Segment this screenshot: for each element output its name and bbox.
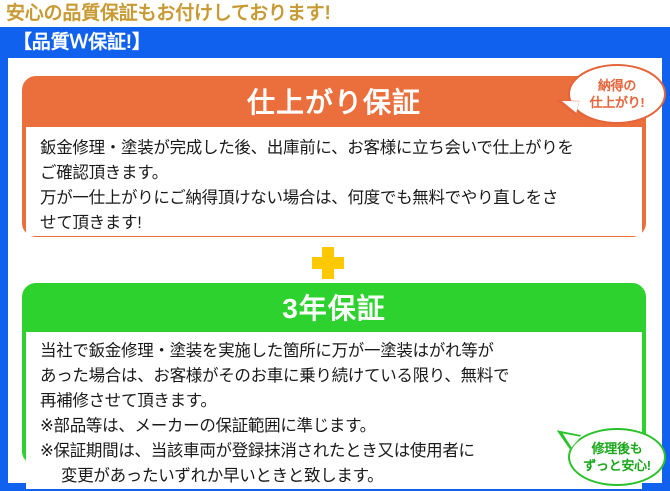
bubble-line-2: ずっと安心! [583,457,651,474]
card-finish-guarantee-title: 仕上がり保証 [25,79,643,127]
plus-icon-vertical-bar [322,247,334,279]
card-three-year-guarantee: 3年保証 当社で鈑金修理・塗装を実施した箇所に万が一塗装はがれ等が あった場合は… [22,283,646,465]
body-line: 当社で鈑金修理・塗装を実施した箇所に万が一塗装はがれ等が [40,339,642,364]
card-finish-guarantee-body: 鈑金修理・塗装が完成した後、出庫前に、お客様に立ち会いで仕上がりを ご確認頂きま… [26,127,642,236]
page-headline: 安心の品質保証もお付けしております! [6,0,666,27]
bubble-line-1: 納得の [598,77,636,94]
card-three-year-guarantee-body: 当社で鈑金修理・塗装を実施した箇所に万が一塗装はがれ等が あった場合は、お客様が… [26,332,642,489]
callout-bubble-finish: 納得の 仕上がり! [568,64,666,124]
card-finish-guarantee: 仕上がり保証 鈑金修理・塗装が完成した後、出庫前に、お客様に立ち会いで仕上がりを… [22,76,646,237]
bubble-line-2: 仕上がり! [590,94,645,111]
body-line: ご確認頂きます。 [40,161,642,186]
blue-banner-label: 【品質Ｗ保証!】 [13,28,151,57]
body-line: 万が一仕上がりにご納得頂けない場合は、何度でも無料でやり直しをさ [40,186,642,211]
body-line: 変更があったいずれか早いときと致します。 [40,464,642,489]
body-line: 再補修させて頂きます。 [40,389,642,414]
bubble-line-1: 修理後も [592,440,643,457]
plus-icon [312,247,344,279]
blue-frame-right [662,58,670,483]
guarantee-infographic: 安心の品質保証もお付けしております! 【品質Ｗ保証!】 仕上がり保証 鈑金修理・… [0,0,670,491]
blue-frame-left [0,58,8,483]
body-line: ※保証期間は、当該車両が登録抹消されたとき又は使用者に [40,439,642,464]
body-line: ※部品等は、メーカーの保証範囲に準じます。 [40,414,642,439]
body-line: せて頂きます! [40,211,642,236]
body-line: 鈑金修理・塗装が完成した後、出庫前に、お客様に立ち会いで仕上がりを [40,136,642,161]
card-three-year-guarantee-title: 3年保証 [25,286,643,332]
callout-bubble-three-year: 修理後も ずっと安心! [568,428,666,486]
body-line: あった場合は、お客様がそのお車に乗り続けている限り、無料で [40,364,642,389]
